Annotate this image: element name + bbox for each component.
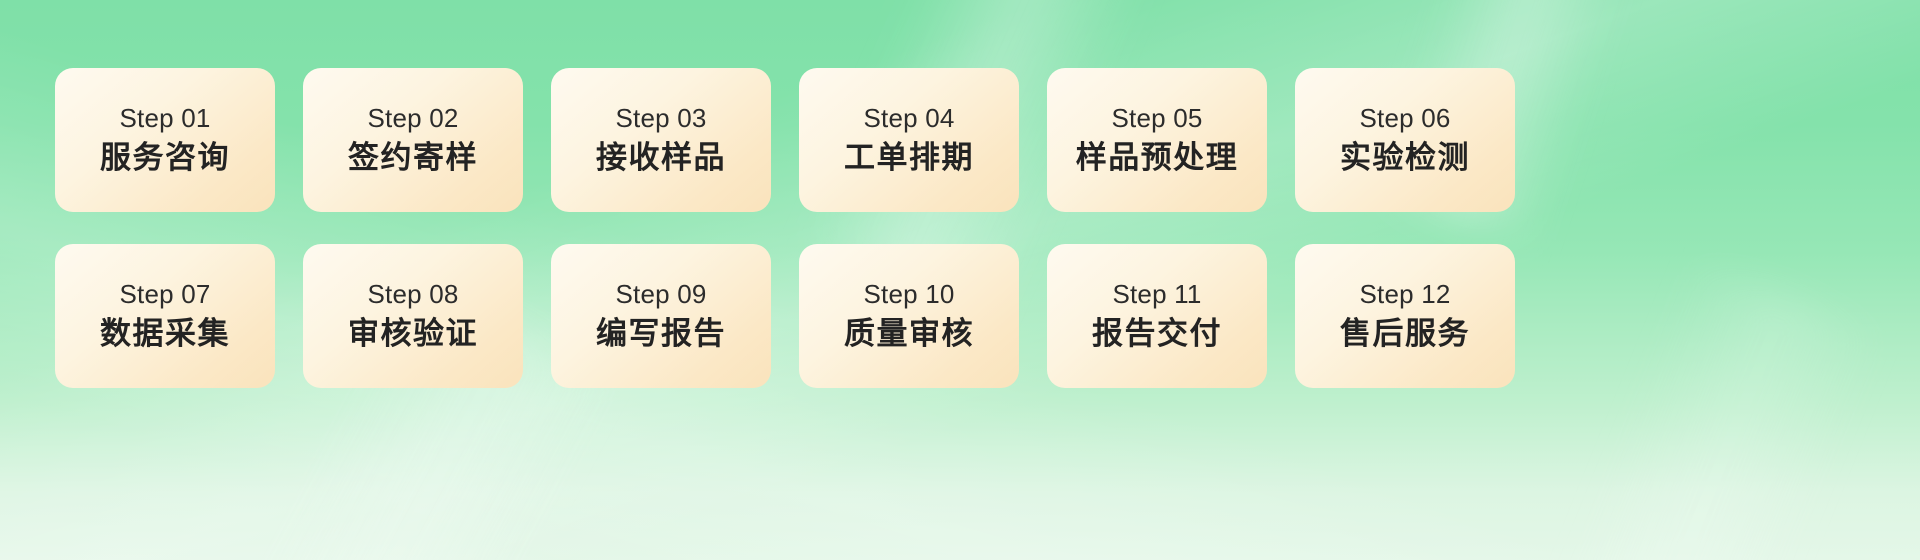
step-label: 接收样品	[596, 140, 726, 176]
step-number: Step 05	[1111, 104, 1202, 134]
step-label: 质量审核	[844, 316, 974, 352]
step-card-01[interactable]: Step 01 服务咨询	[55, 68, 275, 212]
step-number: Step 10	[863, 280, 954, 310]
step-label: 签约寄样	[348, 140, 478, 176]
step-card-08[interactable]: Step 08 审核验证	[303, 244, 523, 388]
step-card-grid: Step 01 服务咨询 Step 02 签约寄样 Step 03 接收样品 S…	[55, 68, 1865, 388]
step-number: Step 01	[119, 104, 210, 134]
step-number: Step 02	[367, 104, 458, 134]
step-number: Step 11	[1112, 280, 1201, 310]
process-flow-banner: Step 01 服务咨询 Step 02 签约寄样 Step 03 接收样品 S…	[0, 0, 1920, 560]
step-label: 工单排期	[844, 140, 974, 176]
step-number: Step 03	[615, 104, 706, 134]
step-card-03[interactable]: Step 03 接收样品	[551, 68, 771, 212]
step-number: Step 09	[615, 280, 706, 310]
step-card-12[interactable]: Step 12 售后服务	[1295, 244, 1515, 388]
step-card-02[interactable]: Step 02 签约寄样	[303, 68, 523, 212]
step-label: 实验检测	[1340, 140, 1470, 176]
step-card-05[interactable]: Step 05 样品预处理	[1047, 68, 1267, 212]
step-label: 编写报告	[596, 316, 726, 352]
step-card-09[interactable]: Step 09 编写报告	[551, 244, 771, 388]
step-label: 样品预处理	[1076, 140, 1239, 176]
step-card-11[interactable]: Step 11 报告交付	[1047, 244, 1267, 388]
step-number: Step 12	[1359, 280, 1450, 310]
step-number: Step 08	[367, 280, 458, 310]
step-label: 数据采集	[100, 316, 230, 352]
step-card-04[interactable]: Step 04 工单排期	[799, 68, 1019, 212]
step-label: 服务咨询	[100, 140, 230, 176]
step-number: Step 06	[1359, 104, 1450, 134]
step-card-10[interactable]: Step 10 质量审核	[799, 244, 1019, 388]
step-number: Step 07	[119, 280, 210, 310]
step-card-06[interactable]: Step 06 实验检测	[1295, 68, 1515, 212]
step-label: 售后服务	[1340, 316, 1470, 352]
step-label: 审核验证	[348, 316, 478, 352]
step-number: Step 04	[863, 104, 954, 134]
step-label: 报告交付	[1092, 316, 1222, 352]
step-card-07[interactable]: Step 07 数据采集	[55, 244, 275, 388]
